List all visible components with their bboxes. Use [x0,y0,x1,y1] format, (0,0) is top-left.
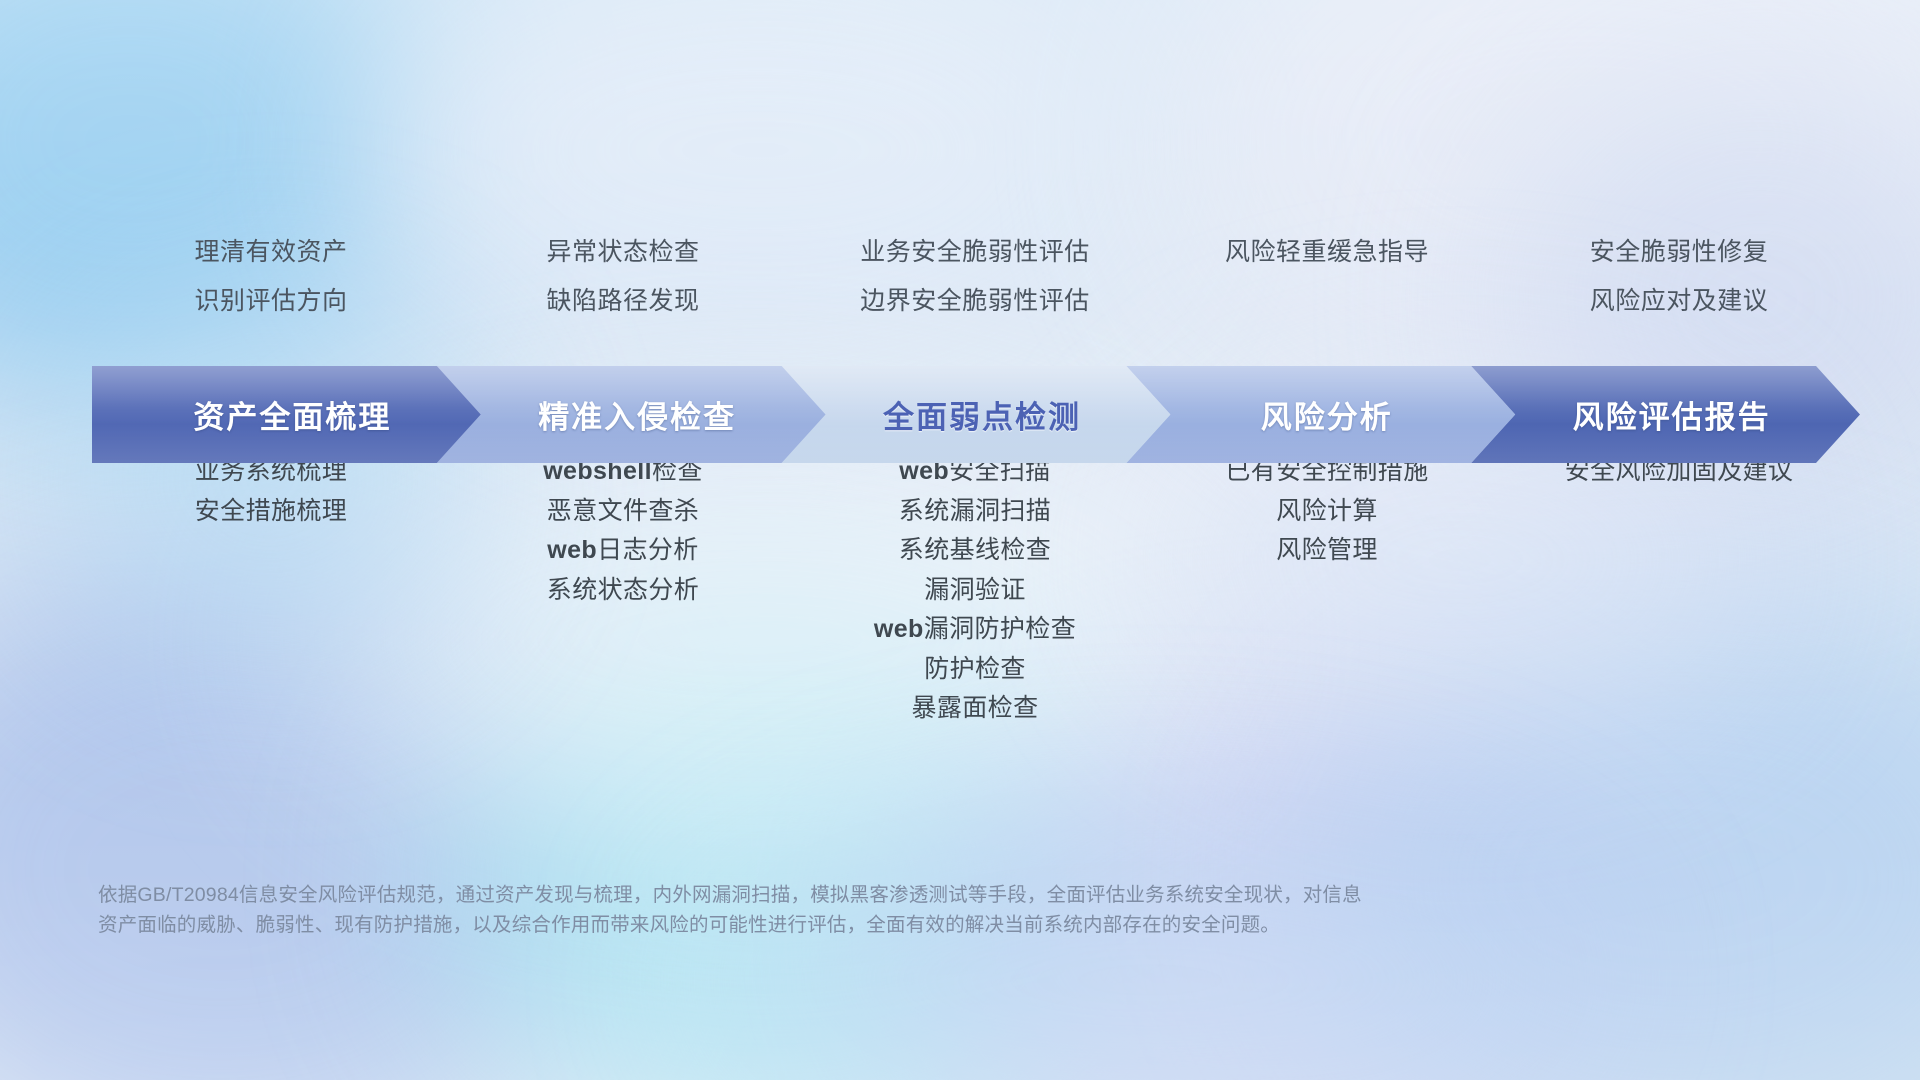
bottom-list-item: web漏洞防护检查 [799,610,1151,650]
top-caption-item: 业务安全脆弱性评估 [799,228,1151,277]
bottom-list-item: 系统漏洞扫描 [799,492,1151,532]
bottom-items-row: 业务系统梳理安全措施梳理webshell检查恶意文件查杀web日志分析系统状态分… [95,452,1855,729]
bottom-list-item-bold: web [547,536,597,564]
bottom-list-item-text: 风险管理 [1276,536,1378,564]
top-caption-item: 风险轻重缓急指导 [1151,228,1503,277]
process-stage-1[interactable]: 资产全面梳理 [92,366,481,463]
bottom-list-item: 风险管理 [1151,531,1503,571]
bottom-list-item-text: 恶意文件查杀 [547,497,699,525]
process-stage-3[interactable]: 全面弱点检测 [782,366,1171,463]
process-stage-label: 资产全面梳理 [193,392,391,437]
bottom-list-item: 漏洞验证 [799,571,1151,611]
bottom-list-item-text: 漏洞验证 [924,576,1026,604]
top-caption-col-4: 风险轻重缓急指导 [1151,228,1503,326]
top-caption-item: 识别评估方向 [95,277,447,326]
bottom-list-item: 防护检查 [799,650,1151,690]
bottom-list-item-text: 日志分析 [597,536,699,564]
bottom-list-item-bold: web [874,615,924,643]
top-caption-col-2: 异常状态检查缺陷路径发现 [447,228,799,326]
bottom-list-item: 暴露面检查 [799,689,1151,729]
process-stage-4[interactable]: 风险分析 [1126,366,1515,463]
top-caption-item: 边界安全脆弱性评估 [799,277,1151,326]
bottom-list-col-3: web安全扫描系统漏洞扫描系统基线检查漏洞验证web漏洞防护检查防护检查暴露面检… [799,452,1151,729]
footer-description: 依据GB/T20984信息安全风险评估规范，通过资产发现与梳理，内外网漏洞扫描，… [98,880,1738,940]
top-caption-col-5: 安全脆弱性修复风险应对及建议 [1503,228,1855,326]
bottom-list-item-text: 漏洞防护检查 [924,615,1076,643]
process-stage-label: 风险评估报告 [1573,392,1771,437]
bottom-list-item-text: 安全措施梳理 [195,497,347,525]
bottom-list-item-text: 系统漏洞扫描 [899,497,1051,525]
bottom-list-col-1: 业务系统梳理安全措施梳理 [95,452,447,729]
top-caption-item: 理清有效资产 [95,228,447,277]
bottom-list-col-2: webshell检查恶意文件查杀web日志分析系统状态分析 [447,452,799,729]
top-caption-item: 风险应对及建议 [1503,277,1855,326]
top-caption-item: 异常状态检查 [447,228,799,277]
bottom-list-item-text: 暴露面检查 [911,694,1038,722]
process-arrow-band: 资产全面梳理精准入侵检查全面弱点检测风险分析风险评估报告 [92,366,1860,463]
top-caption-item: 缺陷路径发现 [447,277,799,326]
top-caption-col-3: 业务安全脆弱性评估边界安全脆弱性评估 [799,228,1151,326]
bottom-list-item: 恶意文件查杀 [447,492,799,532]
process-stage-label: 全面弱点检测 [883,392,1081,437]
footer-line-2: 资产面临的威胁、脆弱性、现有防护措施，以及综合作用而带来风险的可能性进行评估，全… [98,910,1738,940]
bottom-list-col-4: 已有安全控制措施风险计算风险管理 [1151,452,1503,729]
bottom-list-item-text: 防护检查 [924,655,1026,683]
bottom-list-item: 系统基线检查 [799,531,1151,571]
process-stage-5[interactable]: 风险评估报告 [1471,366,1860,463]
bottom-list-col-5: 安全风险加固及建议 [1503,452,1855,729]
bottom-list-item: 系统状态分析 [447,571,799,611]
top-caption-item: 安全脆弱性修复 [1503,228,1855,277]
diagram-canvas: 理清有效资产识别评估方向异常状态检查缺陷路径发现业务安全脆弱性评估边界安全脆弱性… [0,0,1920,1080]
bottom-list-item-text: 系统状态分析 [547,576,699,604]
process-stage-label: 精准入侵检查 [538,392,736,437]
bottom-list-item-text: 系统基线检查 [899,536,1051,564]
top-captions-row: 理清有效资产识别评估方向异常状态检查缺陷路径发现业务安全脆弱性评估边界安全脆弱性… [95,228,1855,326]
process-stage-label: 风险分析 [1261,392,1393,437]
bottom-list-item-text: 风险计算 [1276,497,1378,525]
bottom-list-item: 安全措施梳理 [95,492,447,532]
process-stage-2[interactable]: 精准入侵检查 [437,366,826,463]
footer-line-1: 依据GB/T20984信息安全风险评估规范，通过资产发现与梳理，内外网漏洞扫描，… [98,880,1738,910]
bottom-list-item: 风险计算 [1151,492,1503,532]
top-caption-col-1: 理清有效资产识别评估方向 [95,228,447,326]
bottom-list-item: web日志分析 [447,531,799,571]
